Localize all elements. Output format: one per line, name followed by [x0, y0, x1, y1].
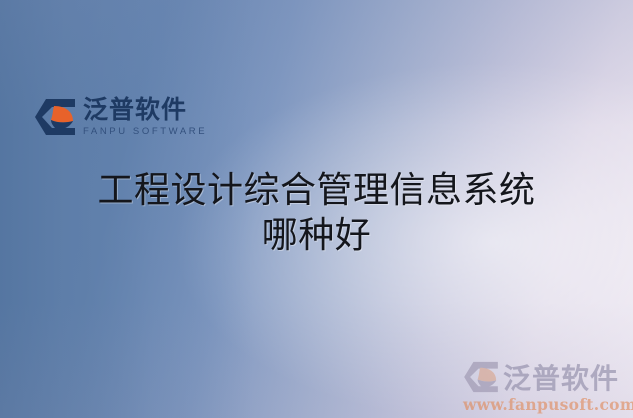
watermark-hexagon-icon [463, 361, 499, 393]
logo-wordmark: 泛普软件 FANPU SOFTWARE [83, 98, 207, 137]
logo-english-name: FANPU SOFTWARE [83, 127, 207, 137]
pixel-bar-chart-motif [62, 14, 174, 100]
fanpu-hexagon-icon [34, 98, 76, 136]
watermark-logo-row: 泛普软件 [463, 357, 633, 397]
promo-banner: 泛普软件 FANPU SOFTWARE 工程设计综合管理信息系统 哪种好 泛普软… [0, 0, 633, 418]
page-title-line-1: 工程设计综合管理信息系统 [0, 168, 633, 213]
pixel-column-1 [62, 54, 88, 100]
pixel-column-2 [96, 14, 128, 100]
page-title-line-2: 哪种好 [0, 213, 633, 258]
page-title: 工程设计综合管理信息系统 哪种好 [0, 168, 633, 259]
watermark-chinese-name: 泛普软件 [503, 357, 619, 397]
watermark-url: www.fanpusoft.com [463, 395, 633, 414]
logo-chinese-name: 泛普软件 [83, 98, 207, 123]
fanpu-software-logo: 泛普软件 FANPU SOFTWARE [34, 98, 207, 137]
fanpusoft-watermark: 泛普软件 www.fanpusoft.com [463, 357, 633, 414]
pixel-column-3 [142, 44, 168, 100]
